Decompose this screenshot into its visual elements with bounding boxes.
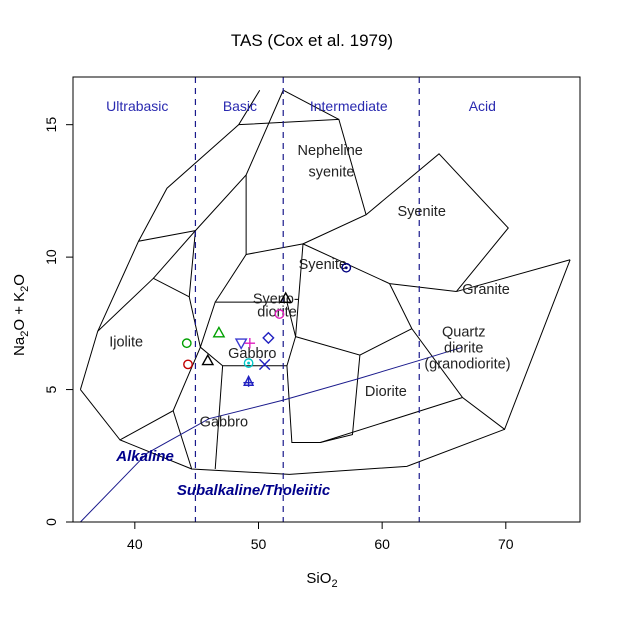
- y-tick-label: 0: [43, 518, 59, 526]
- x-tick-label: 70: [498, 536, 514, 552]
- field-label: Ijolite: [109, 335, 143, 351]
- field-boundary: [320, 355, 360, 442]
- y-tick-label: 15: [43, 117, 59, 133]
- field-label: Syenite: [299, 257, 347, 273]
- field-label: (granodiorite): [424, 356, 510, 372]
- field-label: Gabbro: [200, 415, 248, 431]
- field-boundary: [98, 231, 196, 332]
- field-boundary: [80, 278, 200, 440]
- page-title: TAS (Cox et al. 1979): [231, 31, 393, 50]
- category-label: Basic: [223, 98, 257, 114]
- field-label: Granite: [462, 282, 510, 298]
- field-label: diorite: [444, 340, 484, 356]
- point-red-circle[interactable]: [184, 360, 192, 368]
- x-tick-label: 50: [251, 536, 267, 552]
- category-label: Intermediate: [310, 98, 388, 114]
- y-tick-label: 10: [43, 249, 59, 265]
- field-boundary: [296, 329, 412, 355]
- field-label: diorite: [257, 305, 297, 321]
- field-label: Quartz: [442, 325, 486, 341]
- category-label: Ultrabasic: [106, 98, 168, 114]
- x-axis-label: SiO2: [306, 570, 337, 590]
- tas-chart-page: TAS (Cox et al. 1979) SiO2 Na2O + K2O 40…: [0, 0, 624, 624]
- field-boundary: [239, 119, 366, 243]
- field-boundary: [287, 366, 463, 443]
- field-boundary: [215, 244, 303, 337]
- series-annotation: Subalkaline/Tholeiitic: [177, 482, 331, 499]
- tas-diagram: TAS (Cox et al. 1979) SiO2 Na2O + K2O 40…: [0, 0, 624, 624]
- field-boundary: [366, 154, 508, 292]
- category-label: Acid: [469, 98, 496, 114]
- point-blue-star[interactable]: [243, 376, 253, 386]
- point-green-triangle[interactable]: [214, 327, 224, 336]
- point-green-circle[interactable]: [183, 339, 191, 347]
- point-blue-diamond[interactable]: [263, 333, 273, 343]
- field-label: Nepheline: [298, 143, 363, 159]
- category-labels: UltrabasicBasicIntermediateAcid: [106, 98, 496, 114]
- field-label: Syenite: [398, 204, 446, 220]
- field-label: syenite: [308, 164, 354, 180]
- y-axis-label: Na2O + K2O: [11, 274, 31, 356]
- x-tick-label: 40: [127, 536, 143, 552]
- y-tick-label: 5: [43, 385, 59, 393]
- series-annotation: Alkaline: [115, 448, 174, 465]
- field-label: Diorite: [365, 384, 407, 400]
- x-tick-label: 60: [374, 536, 390, 552]
